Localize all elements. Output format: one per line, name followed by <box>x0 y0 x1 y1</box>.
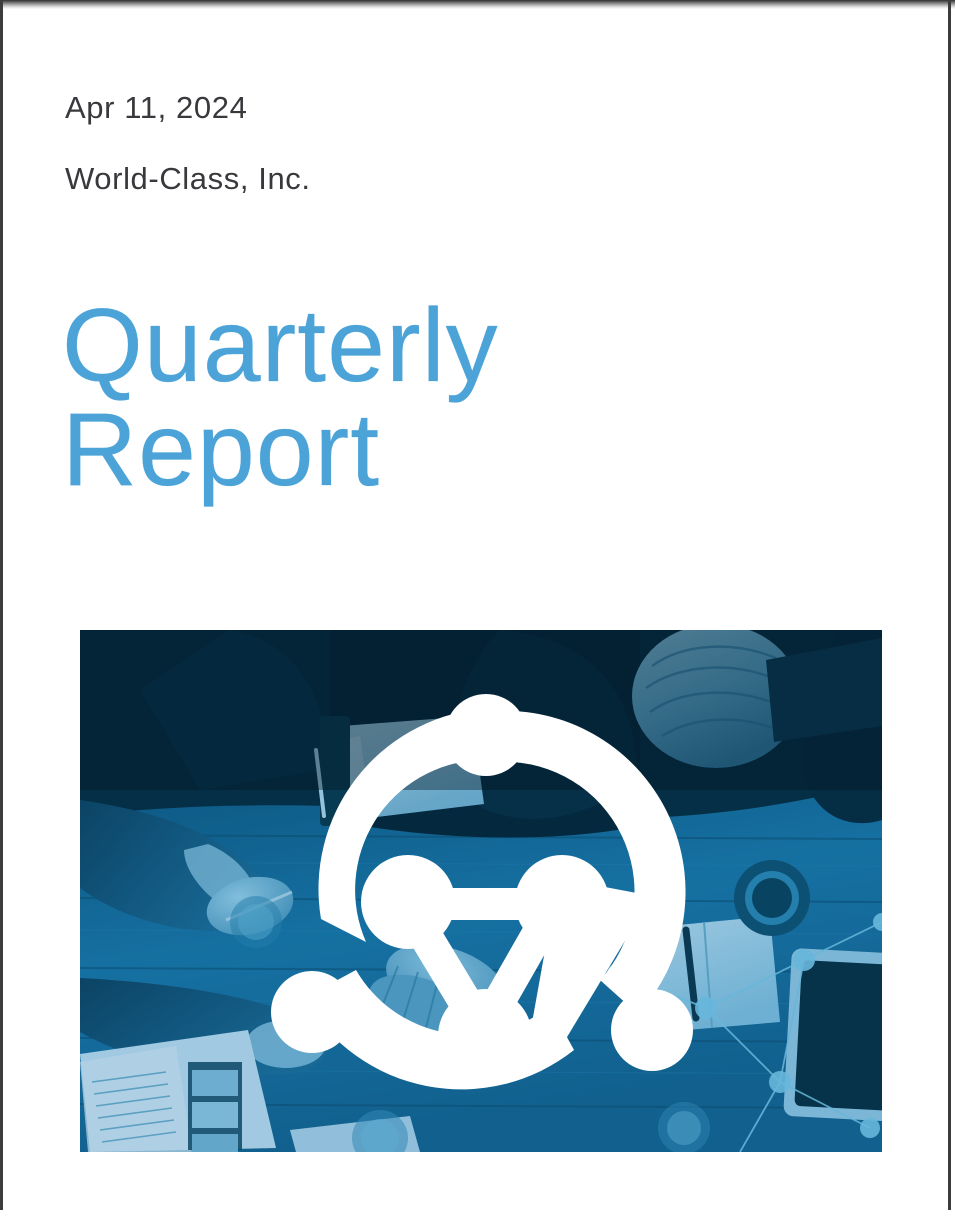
report-cover-page: Apr 11, 2024 World-Class, Inc. Quarterly… <box>0 0 955 1222</box>
company-name: World-Class, Inc. <box>65 163 311 194</box>
page-title: Quarterly Report <box>62 294 662 502</box>
report-date: Apr 11, 2024 <box>65 92 247 123</box>
network-molecule-logo <box>80 630 882 1152</box>
page-title-line-1: Quarterly <box>62 294 662 398</box>
page-right-border <box>948 0 951 1210</box>
cover-image <box>80 630 882 1152</box>
page-left-border <box>0 0 3 1210</box>
page-top-shadow <box>0 0 955 9</box>
page-title-line-2: Report <box>62 398 662 502</box>
